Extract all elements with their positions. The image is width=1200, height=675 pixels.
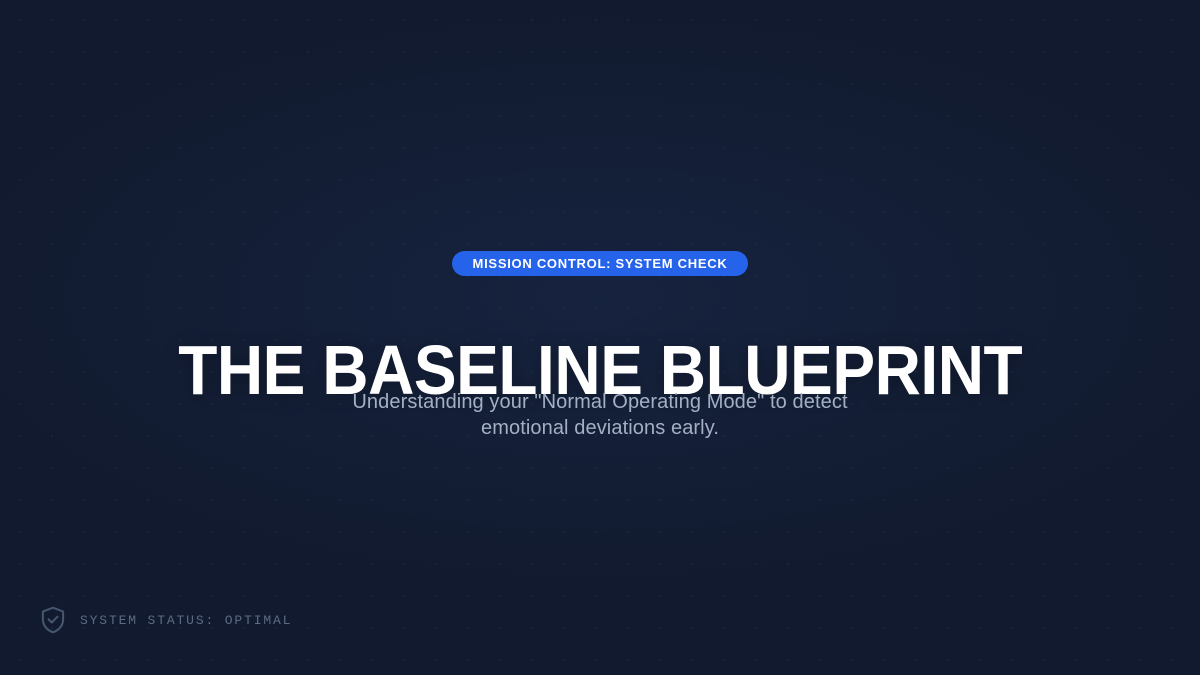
page-subtitle: Understanding your "Normal Operating Mod… — [352, 389, 847, 441]
subtitle-container: Understanding your "Normal Operating Mod… — [0, 369, 1200, 461]
shield-check-icon — [40, 606, 66, 634]
status-badge: MISSION CONTROL: SYSTEM CHECK — [452, 251, 749, 276]
badge-container: MISSION CONTROL: SYSTEM CHECK — [0, 251, 1200, 276]
subtitle-line-1: Understanding your "Normal Operating Mod… — [352, 389, 847, 415]
system-status-bar: SYSTEM STATUS: OPTIMAL — [40, 606, 292, 634]
system-status-text: SYSTEM STATUS: OPTIMAL — [80, 613, 292, 628]
subtitle-line-2: emotional deviations early. — [352, 415, 847, 441]
presentation-slide: MISSION CONTROL: SYSTEM CHECK THE BASELI… — [0, 0, 1200, 675]
